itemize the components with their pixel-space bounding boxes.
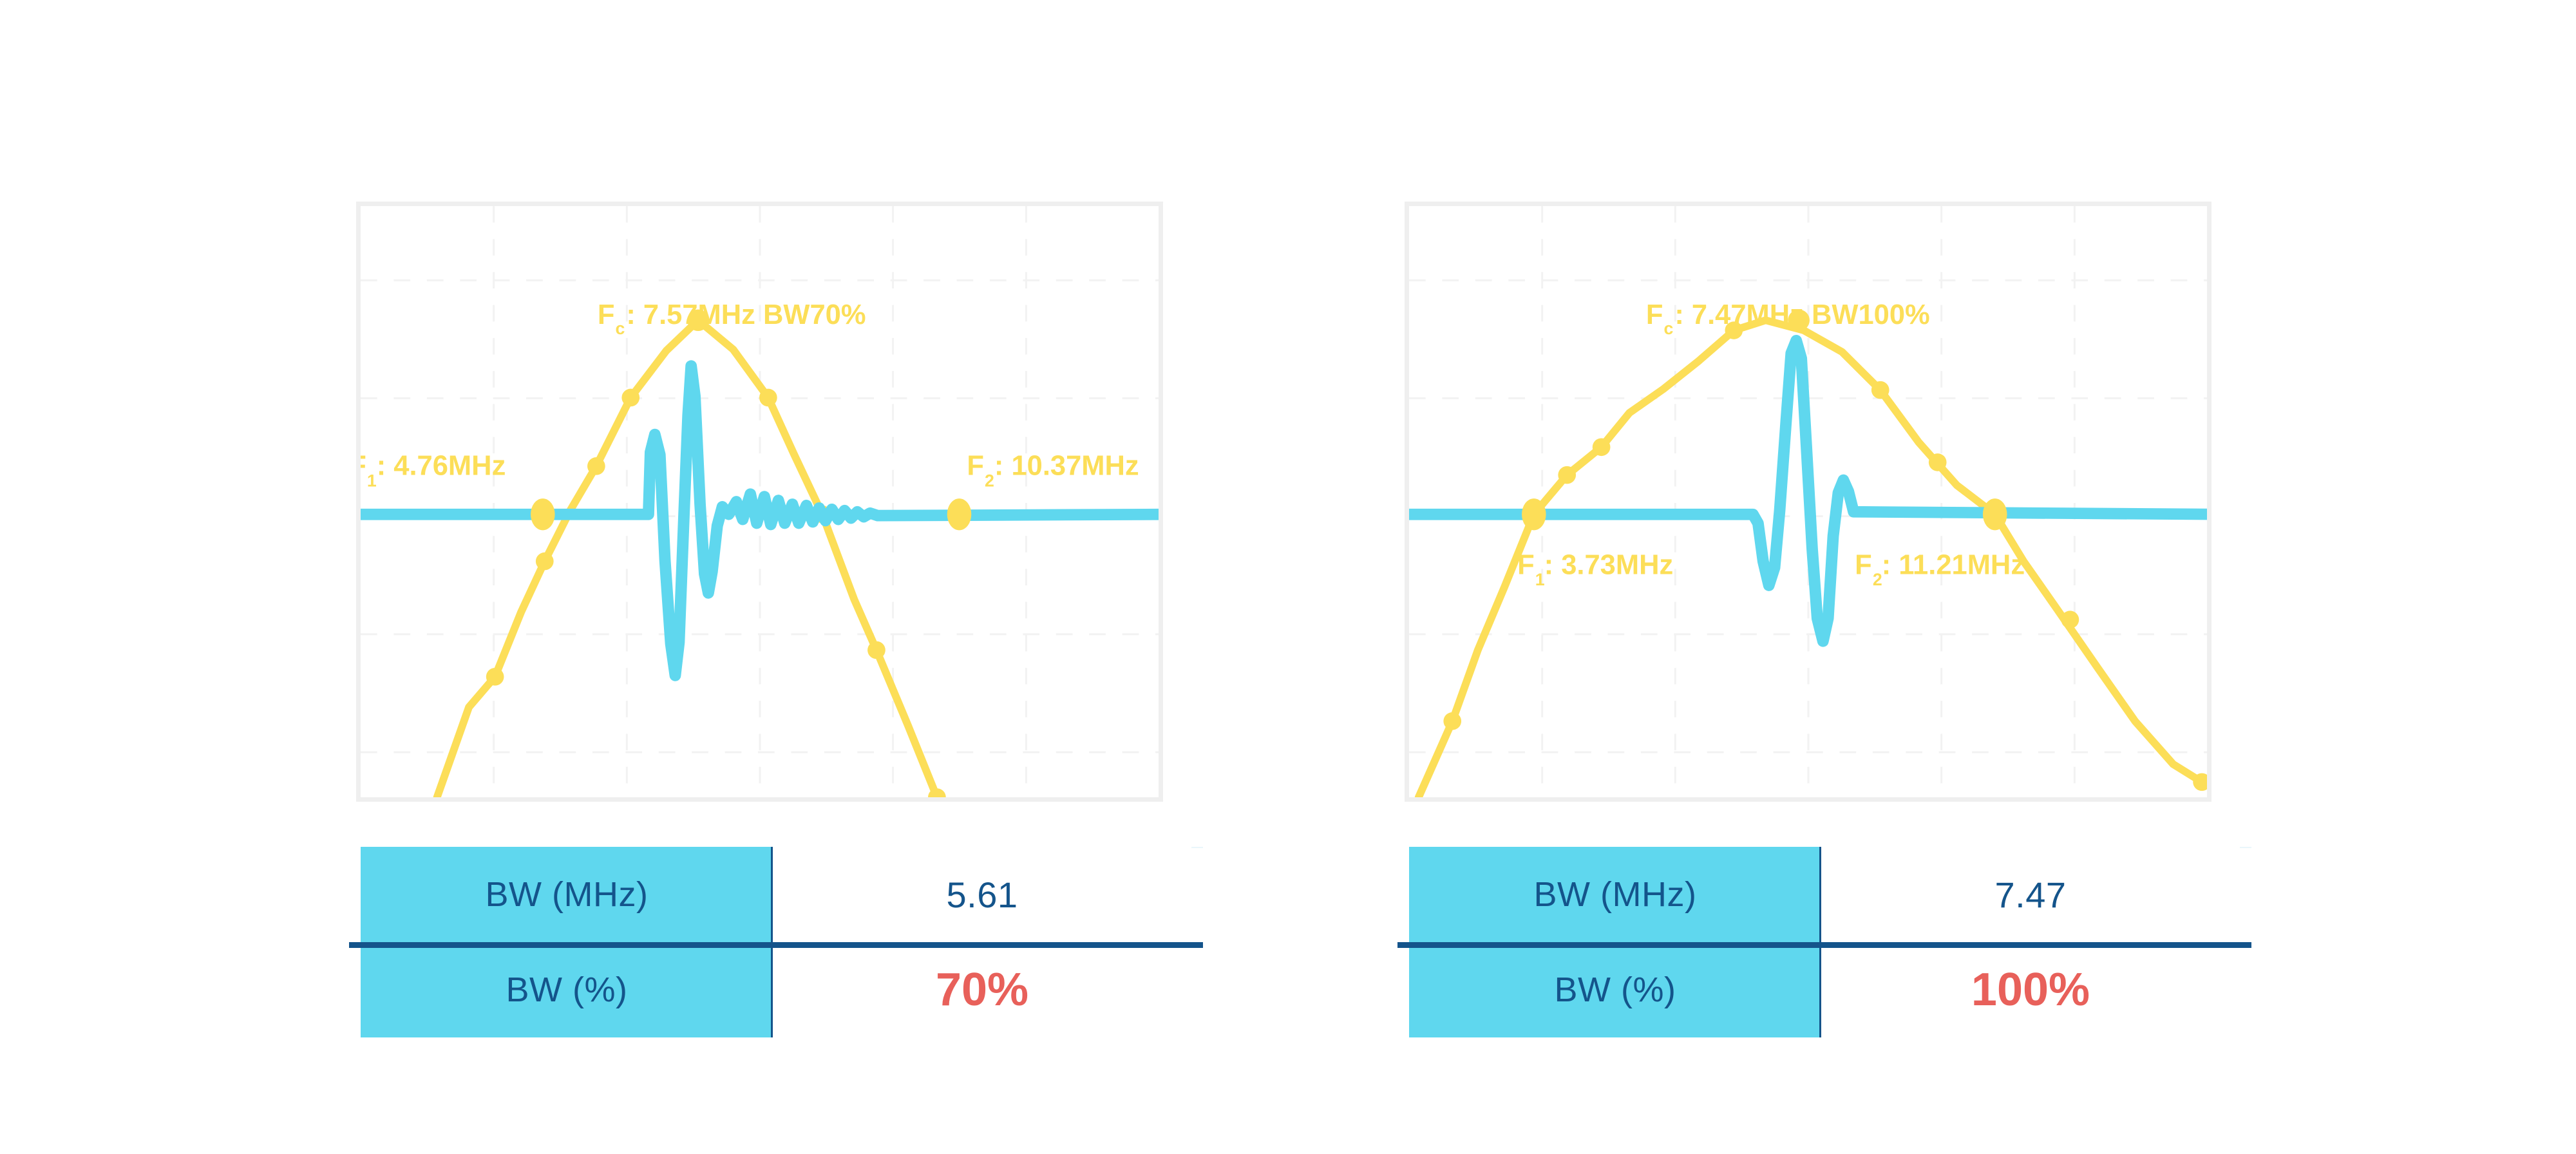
f2-subscript-right: 2: [1873, 570, 1882, 589]
f2-prefix-right: F: [1855, 549, 1872, 580]
fc-prefix-right: F: [1646, 299, 1663, 330]
f2-text-right: : 11.21MHz: [1882, 549, 2025, 580]
label-f2-right: F 2 : 11.21MHz: [1855, 549, 2025, 589]
chart-left: F c : 7.57MHz BW70% F 1 : 4.76MHz F 2 : …: [361, 206, 1159, 797]
bw-pct-value-cell-right: 100%: [1821, 942, 2240, 1037]
bw-pct-label-left: BW (%): [361, 942, 773, 1037]
chart-frame-left: F c : 7.57MHz BW70% F 1 : 4.76MHz F 2 : …: [356, 202, 1163, 802]
label-center-frequency-left: F c : 7.57MHz BW70%: [598, 299, 866, 338]
f2-prefix-left: F: [967, 451, 984, 482]
f1-text-right: : 3.73MHz: [1544, 549, 1674, 580]
bw-mhz-value-cell-right: 7.47: [1821, 847, 2240, 942]
panel-right: F c : 7.47MHz BW100% F 1 : 3.73MHz F 2 :…: [1048, 0, 2336, 1154]
bw-mhz-value-right: 7.47: [1995, 874, 2067, 916]
table-divider-right: [1397, 942, 2251, 948]
fc-text-right: : 7.47MHz BW100%: [1674, 299, 1929, 330]
f1-prefix-left: F: [361, 451, 366, 482]
f2-subscript-left: 2: [985, 471, 994, 490]
fc-subscript-left: c: [616, 319, 625, 338]
bw-pct-label-right: BW (%): [1409, 942, 1821, 1037]
table-row: BW (%) 100%: [1409, 942, 2240, 1037]
pulse-waveform-right: [1409, 341, 2207, 641]
bw-pct-value-right: 100%: [1971, 963, 2090, 1016]
bw-table-right: BW (MHz) 7.47 BW (%) 100%: [1409, 847, 2240, 1038]
fc-prefix-left: F: [598, 299, 615, 330]
label-f1-right: F 1 : 3.73MHz: [1517, 549, 1673, 589]
fc-text-left: : 7.57MHz BW70%: [626, 299, 866, 330]
bw-mhz-label-right: BW (MHz): [1409, 847, 1821, 942]
bw-mhz-label-left: BW (MHz): [361, 847, 773, 942]
bw-mhz-value-left: 5.61: [947, 874, 1018, 916]
f1-text-left: : 4.76MHz: [377, 451, 506, 482]
chart-frame-right: F c : 7.47MHz BW100% F 1 : 3.73MHz F 2 :…: [1405, 202, 2211, 802]
table-divider-left: [349, 942, 1203, 948]
f1-prefix-right: F: [1517, 549, 1535, 580]
label-center-frequency-right: F c : 7.47MHz BW100%: [1646, 299, 1930, 338]
bw-pct-value-left: 70%: [936, 963, 1028, 1016]
chart-right: F c : 7.47MHz BW100% F 1 : 3.73MHz F 2 :…: [1409, 206, 2207, 797]
label-f1-left: F 1 : 4.76MHz: [361, 451, 506, 491]
f1-subscript-left: 1: [367, 471, 377, 490]
table-row: BW (MHz) 7.47: [1409, 847, 2240, 942]
fc-subscript-right: c: [1664, 319, 1674, 338]
f1-subscript-right: 1: [1535, 570, 1545, 589]
